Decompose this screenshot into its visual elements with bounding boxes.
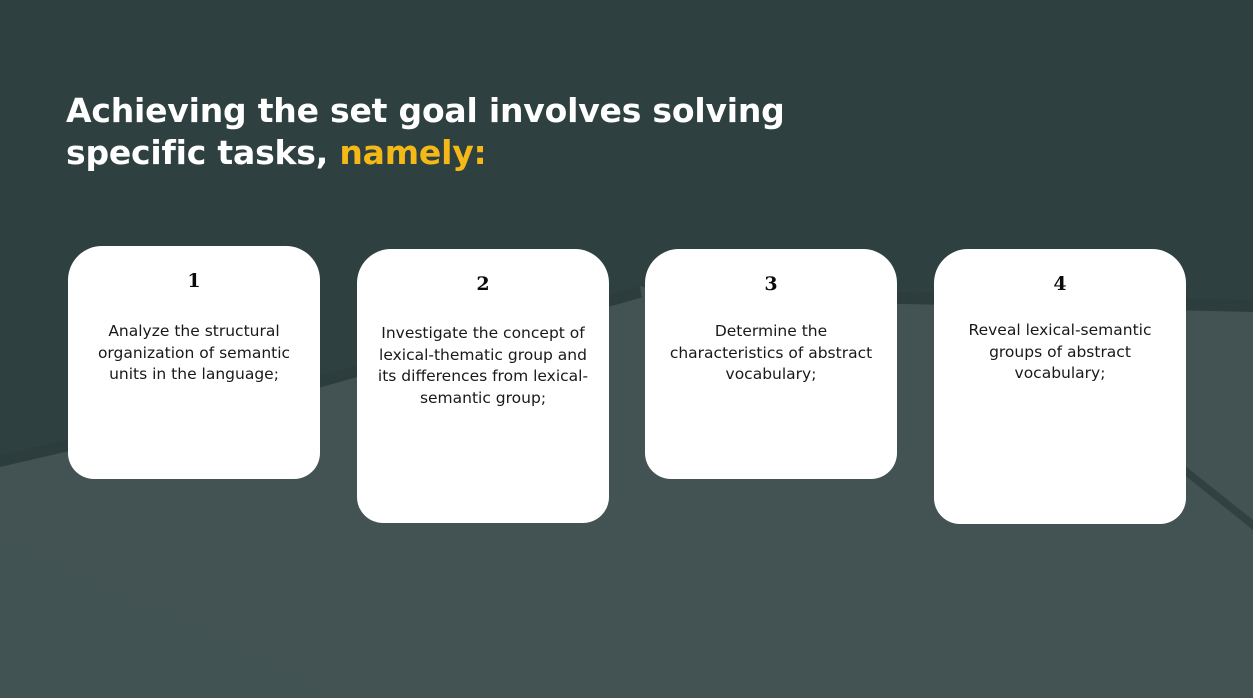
title-line-1: Achieving the set goal involves solving <box>66 90 826 132</box>
task-card-text: Reveal lexical-semantic groups of abstra… <box>948 320 1172 385</box>
task-card-list: 1 Analyze the structural organization of… <box>0 246 1253 546</box>
title-line-2: specific tasks, namely: <box>66 132 826 174</box>
task-card-text: Analyze the structural organization of s… <box>82 321 306 386</box>
task-card-text: Determine the characteristics of abstrac… <box>659 321 883 386</box>
task-card-number: 3 <box>659 273 883 295</box>
task-card-text: Investigate the concept of lexical-thema… <box>371 323 595 409</box>
task-card[interactable]: 3 Determine the characteristics of abstr… <box>645 249 897 479</box>
task-card-number: 1 <box>82 270 306 292</box>
task-card[interactable]: 1 Analyze the structural organization of… <box>68 246 320 479</box>
title-accent-word: namely: <box>339 133 486 172</box>
task-card[interactable]: 4 Reveal lexical-semantic groups of abst… <box>934 249 1186 524</box>
title-line-2-plain: specific tasks, <box>66 133 328 172</box>
task-card[interactable]: 2 Investigate the concept of lexical-the… <box>357 249 609 523</box>
task-card-number: 2 <box>371 273 595 295</box>
presentation-slide: Achieving the set goal involves solving … <box>0 0 1253 698</box>
page-title: Achieving the set goal involves solving … <box>66 90 826 174</box>
task-card-number: 4 <box>948 273 1172 295</box>
